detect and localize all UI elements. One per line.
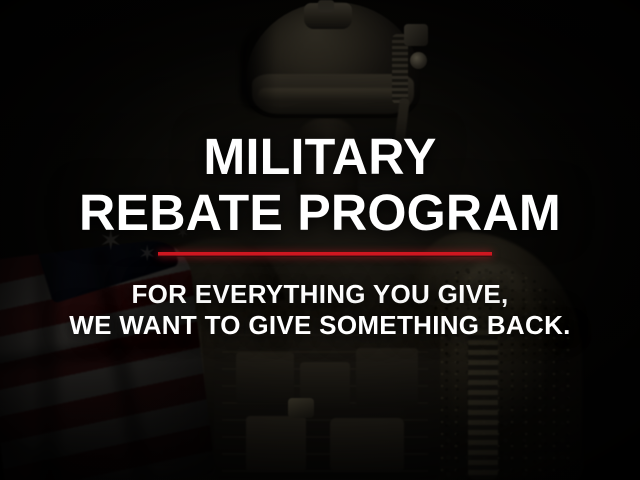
subheadline-line-1: FOR EVERYTHING YOU GIVE, xyxy=(0,279,640,309)
headline-line-2: REBATE PROGRAM xyxy=(5,187,635,239)
banner-content: MILITARY REBATE PROGRAM FOR EVERYTHING Y… xyxy=(0,0,640,480)
headline-line-1: MILITARY xyxy=(5,131,635,183)
military-rebate-program-hero-banner: ✶ ✶ ✶ MILITARY REBATE PROGRAM FOR EVERYT… xyxy=(0,0,640,480)
subheadline-line-2: WE WANT TO GIVE SOMETHING BACK. xyxy=(0,310,640,340)
red-accent-rule xyxy=(158,252,492,257)
